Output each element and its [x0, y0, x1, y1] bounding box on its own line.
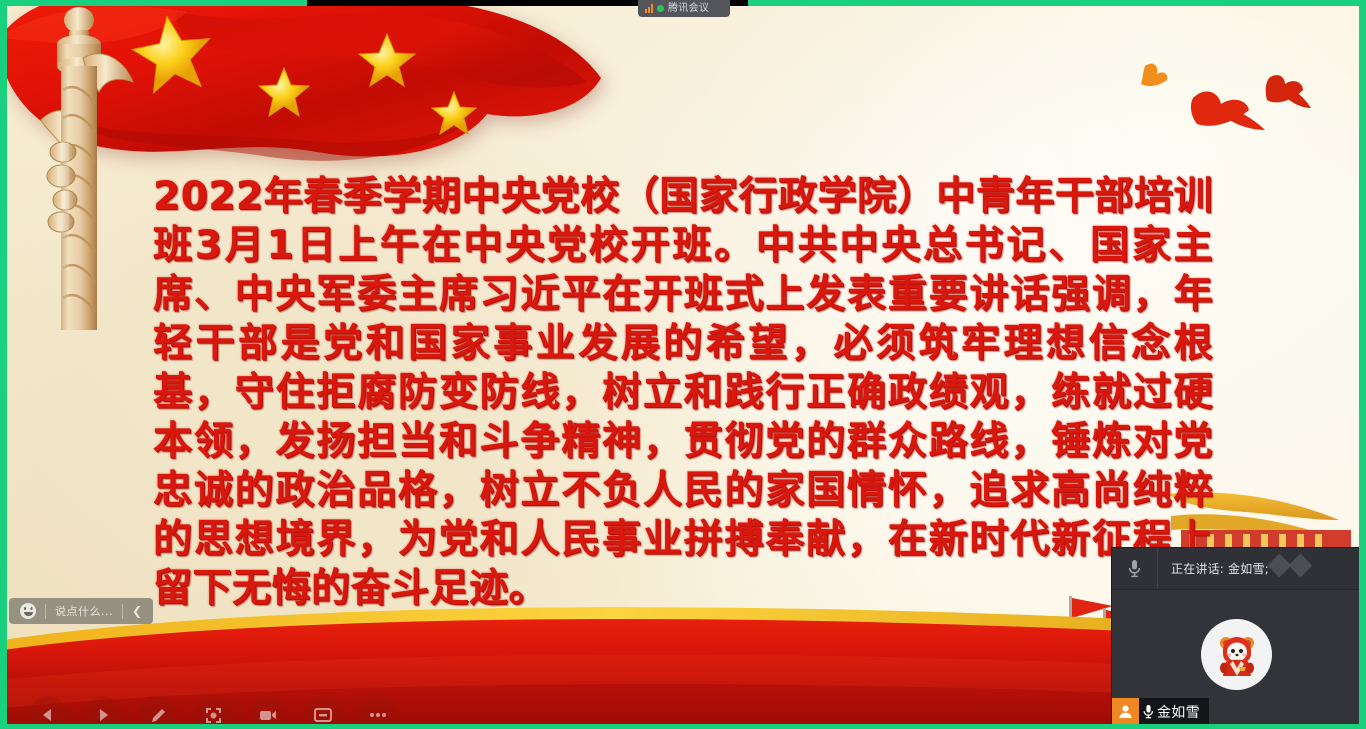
annotate-pen-button[interactable]: [139, 696, 177, 724]
emoji-picker-button[interactable]: [11, 598, 45, 624]
video-feed-area[interactable]: 金如雪: [1112, 590, 1361, 724]
chevron-left-icon: ❮: [132, 605, 142, 617]
laser-pointer-button[interactable]: [194, 696, 232, 724]
huabiao-column-illustration: [21, 6, 141, 330]
more-options-button[interactable]: [359, 696, 397, 724]
meeting-video-panel[interactable]: 正在讲话: 金如雪;: [1112, 548, 1361, 724]
tencent-meeting-pill[interactable]: 腾讯会议: [638, 0, 730, 17]
video-camera-icon: [259, 708, 277, 722]
screen-share-border-bottom: [0, 724, 1366, 729]
comment-input[interactable]: 说点什么...: [46, 598, 122, 624]
comment-input-bar[interactable]: 说点什么... ❮: [9, 598, 153, 624]
screen-share-border-left: [0, 0, 7, 729]
speaking-status-label: 正在讲话: 金如雪;: [1171, 560, 1269, 577]
triangle-right-icon: [95, 707, 111, 723]
flying-doves-illustration: [1097, 38, 1357, 158]
triangle-left-icon: [40, 707, 56, 723]
smiley-icon: [20, 603, 36, 619]
mic-status-button[interactable]: [1112, 548, 1158, 589]
cartoon-panda-avatar: [1213, 631, 1261, 679]
microphone-icon: [1128, 559, 1141, 578]
previous-slide-button[interactable]: [29, 696, 67, 724]
focus-frame-icon: [205, 707, 222, 724]
comment-placeholder-text: 说点什么...: [55, 603, 113, 619]
avatar: [1201, 619, 1272, 690]
presentation-toolbar[interactable]: [29, 696, 397, 724]
minimize-button[interactable]: [304, 696, 342, 724]
video-panel-header: 正在讲话: 金如雪;: [1112, 548, 1361, 590]
microphone-icon: [1143, 704, 1154, 719]
camera-button[interactable]: [249, 696, 287, 724]
rectangle-minus-icon: [314, 708, 332, 722]
screen-root: 2022年春季学期中央党校（国家行政学院）中青年干部培训班3月1日上午在中央党校…: [0, 0, 1366, 729]
collapse-comment-bar-button[interactable]: ❮: [123, 598, 151, 624]
ellipsis-icon: [369, 712, 387, 718]
signal-bars-icon: [645, 4, 653, 13]
diamond-marks-icon: [1271, 557, 1309, 574]
person-icon: [1112, 698, 1139, 724]
green-status-dot-icon: [657, 5, 664, 12]
pen-icon: [150, 707, 167, 724]
slide-headline-text: 2022年春季学期中央党校（国家行政学院）中青年干部培训班3月1日上午在中央党校…: [153, 172, 1213, 613]
meeting-app-label: 腾讯会议: [668, 0, 709, 17]
next-slide-button[interactable]: [84, 696, 122, 724]
participant-name-tag: 金如雪: [1112, 698, 1209, 724]
participant-name-label: 金如雪: [1157, 702, 1200, 722]
